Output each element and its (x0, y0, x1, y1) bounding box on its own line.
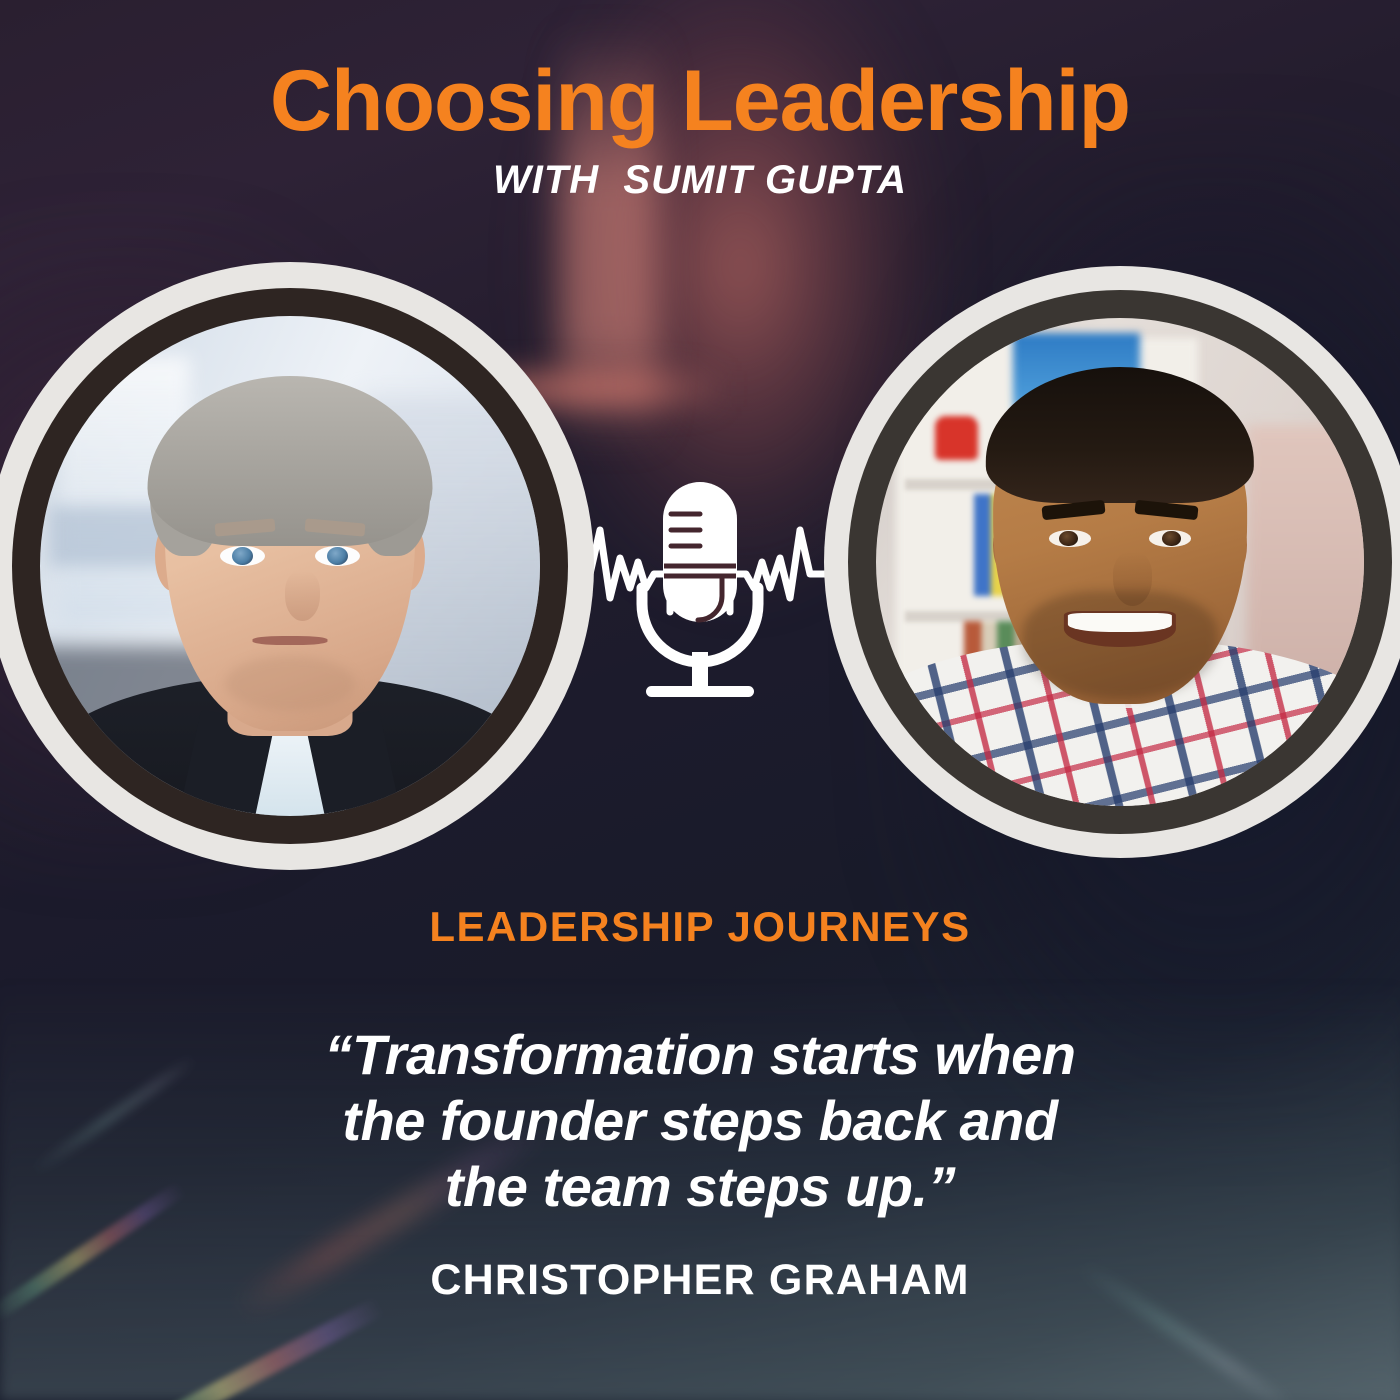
photo-nose (285, 571, 320, 621)
quote-line: the founder steps back and (0, 1088, 1400, 1154)
photo-iris-left (232, 547, 253, 565)
guest-photo-right-inner-ring (848, 290, 1392, 834)
photo-chin-shadow (225, 656, 355, 711)
guest-photo-right (876, 318, 1364, 806)
guest-photo-left-inner-ring (12, 288, 568, 844)
speaker-name: CHRISTOPHER GRAHAM (0, 1256, 1400, 1305)
photo-smile (1064, 611, 1176, 648)
guest-photo-left (40, 316, 540, 816)
photo-mouth (253, 636, 328, 645)
guest-photo-left-frame (0, 262, 594, 870)
cover-header: Choosing Leadership WITH SUMIT GUPTA (0, 58, 1400, 203)
show-host-subtitle: WITH SUMIT GUPTA (0, 158, 1400, 203)
guest-photo-right-frame (824, 266, 1400, 858)
quote-line: the team steps up.” (0, 1154, 1400, 1220)
show-title: Choosing Leadership (0, 58, 1400, 144)
photo-teeth (1068, 613, 1171, 632)
section-label: LEADERSHIP JOURNEYS (0, 903, 1400, 951)
photo-iris-right (327, 547, 348, 565)
podcast-cover-art: Choosing Leadership WITH SUMIT GUPTA (0, 0, 1400, 1400)
quote-line: “Transformation starts when (0, 1022, 1400, 1088)
photo-iris-right (1162, 531, 1181, 547)
photo-red-object (935, 416, 979, 460)
quote-block: “Transformation starts when the founder … (0, 1022, 1400, 1220)
microphone-with-waveform-icon (550, 470, 850, 710)
